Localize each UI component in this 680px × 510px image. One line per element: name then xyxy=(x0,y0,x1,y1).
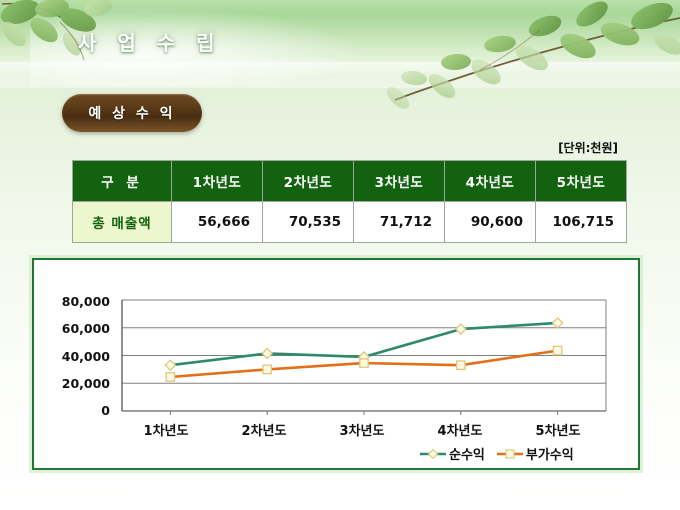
revenue-table: 구 분 1차년도 2차년도 3차년도 4차년도 5차년도 총 매출액 56,66… xyxy=(72,160,627,243)
unit-note: [단위:천원] xyxy=(558,139,618,156)
line-chart-plot xyxy=(34,260,642,472)
legend-item-net-profit[interactable]: 순수익 xyxy=(420,444,485,463)
page-title: 사 업 수 립 xyxy=(78,27,222,56)
legend-label-added-profit: 부가수익 xyxy=(526,444,574,463)
chart-frame: 80,000 60,000 40,000 20,000 0 1차년도 2차년도 … xyxy=(32,258,640,470)
x-tick-2: 3차년도 xyxy=(317,420,407,439)
table-cell-year-1: 56,666 xyxy=(172,202,263,243)
table-cell-year-2: 70,535 xyxy=(263,202,354,243)
table-cell-year-5: 106,715 xyxy=(536,202,627,243)
x-tick-4: 5차년도 xyxy=(513,420,603,439)
chart-legend: 순수익 부가수익 xyxy=(420,444,574,463)
chart-inner: 80,000 60,000 40,000 20,000 0 1차년도 2차년도 … xyxy=(34,260,638,468)
legend-item-added-profit[interactable]: 부가수익 xyxy=(497,444,574,463)
table-header-division: 구 분 xyxy=(73,161,172,202)
table-header-year-1: 1차년도 xyxy=(172,161,263,202)
legend-marker-square-icon xyxy=(497,448,523,460)
table-header-year-3: 3차년도 xyxy=(354,161,445,202)
section-pill[interactable]: 예 상 수 익 xyxy=(62,94,202,132)
x-tick-0: 1차년도 xyxy=(121,420,211,439)
slide: 사 업 수 립 예 상 수 익 [단위:천원] 구 분 1차년도 2차년도 3차… xyxy=(0,0,680,510)
section-pill-label: 예 상 수 익 xyxy=(88,103,175,123)
table-header-year-4: 4차년도 xyxy=(445,161,536,202)
table-header-row: 구 분 1차년도 2차년도 3차년도 4차년도 5차년도 xyxy=(73,161,627,202)
legend-marker-diamond-icon xyxy=(420,448,446,460)
legend-label-net-profit: 순수익 xyxy=(449,444,485,463)
table-row: 총 매출액 56,666 70,535 71,712 90,600 106,71… xyxy=(73,202,627,243)
table-header-year-5: 5차년도 xyxy=(536,161,627,202)
table-header-year-2: 2차년도 xyxy=(263,161,354,202)
x-tick-3: 4차년도 xyxy=(415,420,505,439)
table-row-label-total-sales: 총 매출액 xyxy=(73,202,172,243)
table-cell-year-3: 71,712 xyxy=(354,202,445,243)
header-sheen xyxy=(0,62,680,88)
x-tick-1: 2차년도 xyxy=(219,420,309,439)
table-cell-year-4: 90,600 xyxy=(445,202,536,243)
